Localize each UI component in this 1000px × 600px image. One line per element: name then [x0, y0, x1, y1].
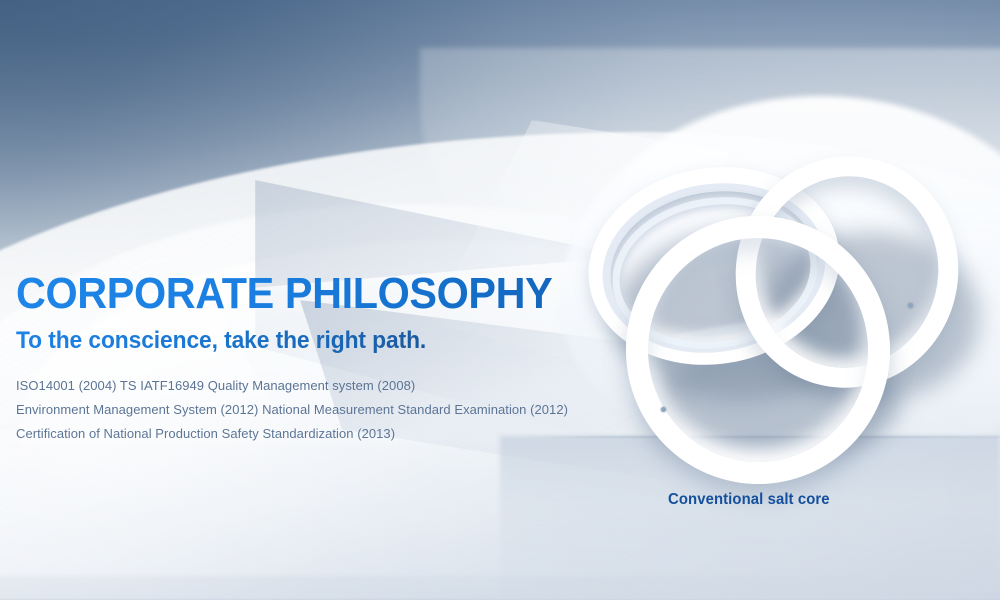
page-title: CORPORATE PHILOSOPHY — [16, 272, 599, 316]
foreground-floor-sheen — [0, 430, 560, 600]
certification-line: Environment Management System (2012) Nat… — [16, 398, 636, 422]
salt-core-pinhole-front — [661, 407, 666, 412]
salt-core-pinhole-right — [908, 303, 913, 308]
corporate-philosophy-banner: CORPORATE PHILOSOPHY To the conscience, … — [0, 0, 1000, 600]
product-caption: Conventional salt core — [668, 491, 830, 509]
page-subtitle: To the conscience, take the right path. — [16, 328, 605, 354]
certification-line: Certification of National Production Saf… — [16, 422, 636, 446]
certification-line: ISO14001 (2004) TS IATF16949 Quality Man… — [16, 374, 636, 398]
certification-list: ISO14001 (2004) TS IATF16949 Quality Man… — [16, 374, 636, 446]
headline-text-block: CORPORATE PHILOSOPHY To the conscience, … — [16, 272, 636, 446]
